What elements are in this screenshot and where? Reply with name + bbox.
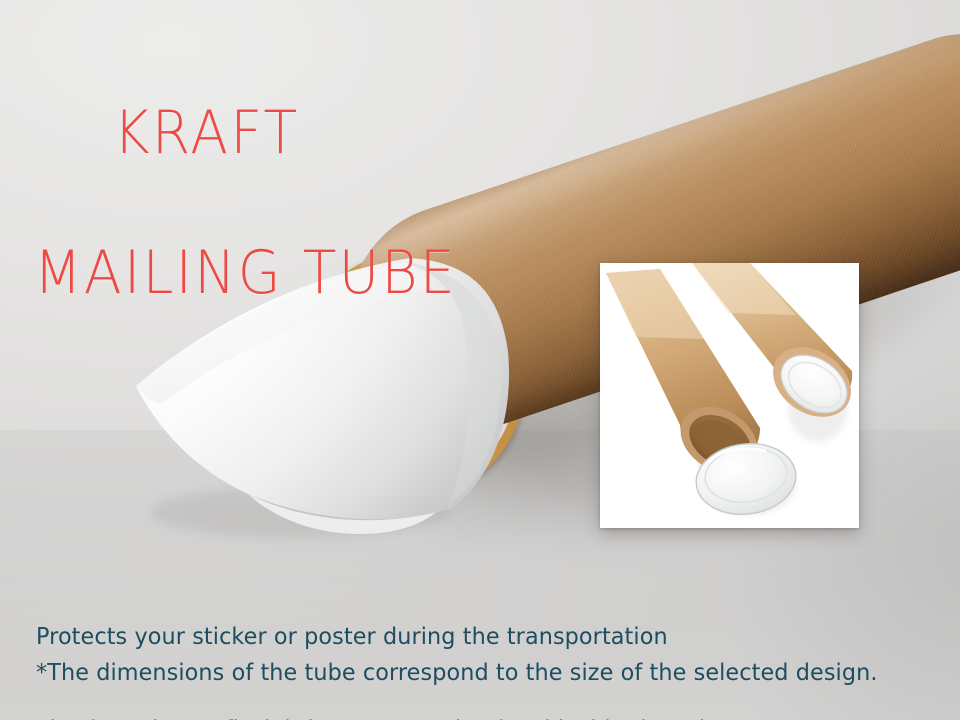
inset-photo-artwork [600,263,859,528]
inset-product-photo [600,263,859,528]
feature-line-2: Plastic end caps fit tightly to secure t… [36,715,727,720]
footnote-text: *The dimensions of the tube correspond t… [36,658,878,688]
page-title: KRAFT MAILING TUBE [34,28,457,448]
feature-list: Protects your sticker or poster during t… [36,560,727,720]
headline-line-1: KRAFT [113,98,299,168]
feature-line-1: Protects your sticker or poster during t… [36,622,727,653]
poster-canvas: KRAFT MAILING TUBE Protects your sticker… [0,0,960,720]
headline-line-2: MAILING TUBE [34,238,457,308]
